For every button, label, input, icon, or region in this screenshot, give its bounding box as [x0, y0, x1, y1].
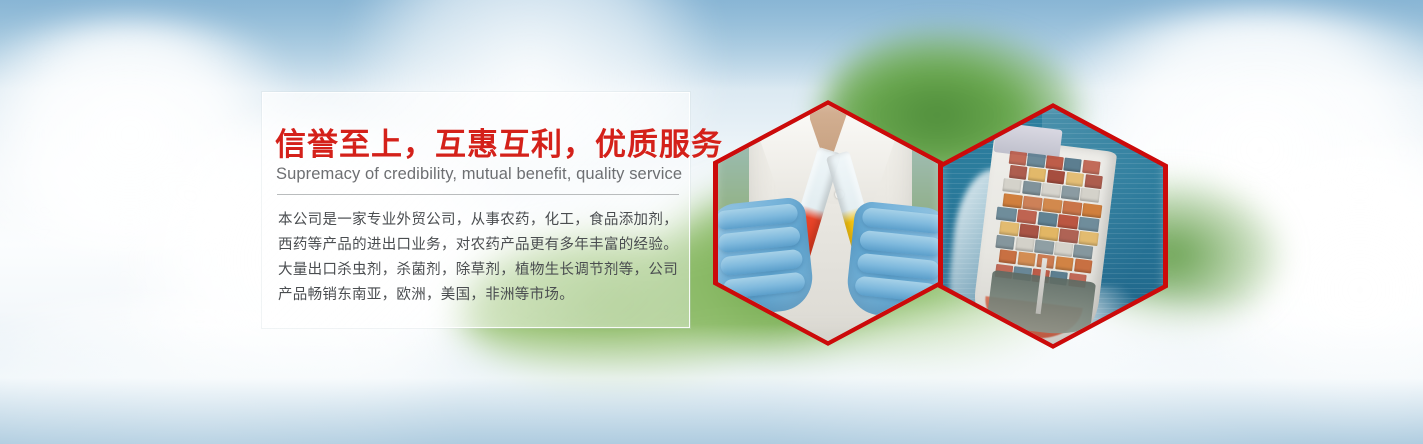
laboratory-photo: [718, 105, 938, 341]
gloved-hand-right: [844, 200, 938, 322]
cloud-shape: [1150, 140, 1423, 440]
headline-chinese: 信誉至上，互惠互利，优质服务: [275, 119, 723, 164]
company-description: 本公司是一家专业外贸公司，从事农药，化工，食品添加剂，西药等产品的进出口业务，对…: [278, 208, 678, 308]
container-ship-photo: [943, 108, 1163, 344]
bottom-haze: [0, 324, 1423, 444]
gloved-hand-left: [718, 196, 816, 318]
text-panel: 信誉至上，互惠互利，优质服务 Supremacy of credibility,…: [262, 92, 690, 328]
hexagon-laboratory[interactable]: [713, 100, 943, 346]
sky-gradient: [0, 0, 1423, 90]
hexagon-container-ship[interactable]: [938, 103, 1168, 349]
promo-banner: 信誉至上，互惠互利，优质服务 Supremacy of credibility,…: [0, 0, 1423, 444]
panel-divider: [277, 194, 679, 195]
headline-english: Supremacy of credibility, mutual benefit…: [276, 165, 682, 184]
